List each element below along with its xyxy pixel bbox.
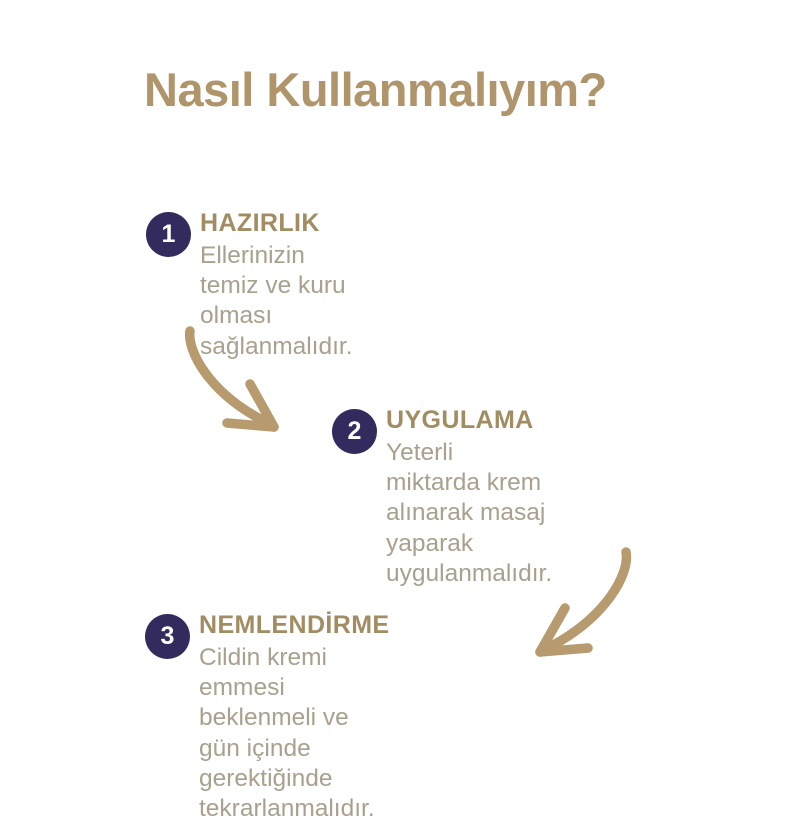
- step-2-heading: UYGULAMA: [386, 405, 552, 436]
- step-2-number-badge: 2: [332, 409, 377, 454]
- page-title: Nasıl Kullanmalıyım?: [144, 64, 607, 116]
- step-3-heading: NEMLENDİRME: [199, 610, 390, 641]
- step-1-number-badge: 1: [146, 212, 191, 257]
- curved-arrow-down-right-icon: [178, 322, 298, 442]
- curved-arrow-down-left-icon: [520, 542, 640, 667]
- step-3-number-badge: 3: [145, 614, 190, 659]
- step-3-body: NEMLENDİRME Cildin kremi emmesi beklenme…: [199, 610, 390, 825]
- step-1-heading: HAZIRLIK: [200, 208, 353, 239]
- infographic-root: Nasıl Kullanmalıyım? 1 HAZIRLIK Ellerini…: [0, 0, 800, 800]
- step-3-text: Cildin kremi emmesi beklenmeli ve gün iç…: [199, 643, 390, 825]
